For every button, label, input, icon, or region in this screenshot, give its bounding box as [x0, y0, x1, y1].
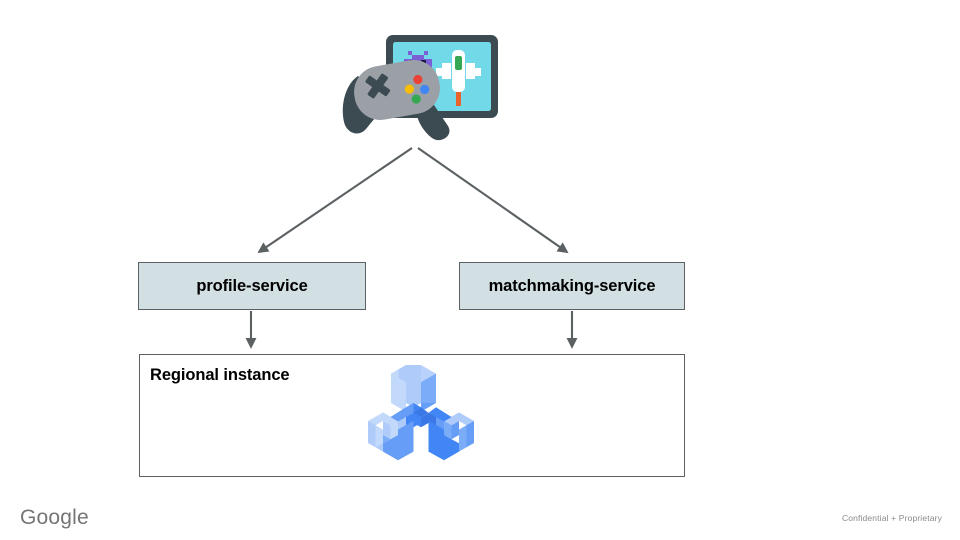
node-regional-instance[interactable]: Regional instance: [139, 354, 685, 477]
confidential-notice: Confidential + Proprietary: [842, 513, 942, 523]
node-matchmaking-service[interactable]: matchmaking-service: [459, 262, 685, 310]
video-game-icon: [336, 30, 504, 148]
node-matchmaking-service-label: matchmaking-service: [489, 277, 656, 296]
slide-canvas: profile-service matchmaking-service Regi…: [0, 0, 960, 540]
node-profile-service-label: profile-service: [196, 277, 307, 296]
connector-gamepad-to-matchmaking-service: [418, 148, 567, 252]
connector-gamepad-to-profile-service: [259, 148, 412, 252]
node-regional-instance-label: Regional instance: [150, 366, 290, 385]
node-profile-service[interactable]: profile-service: [138, 262, 366, 310]
google-logo: Google: [20, 506, 89, 530]
managed-instance-group-icon: [362, 361, 480, 469]
